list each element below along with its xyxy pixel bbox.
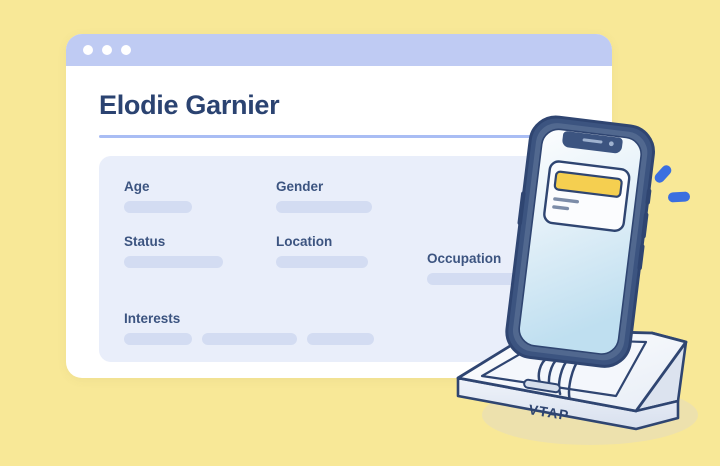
field-label-age: Age	[124, 179, 192, 194]
field-value-status[interactable]	[124, 256, 223, 268]
phone-on-nfc-reader-illustration: VTAP	[440, 130, 720, 460]
page-title: Elodie Garnier	[99, 90, 279, 121]
interest-chip-3[interactable]	[307, 333, 374, 345]
window-dot-minimize-icon[interactable]	[102, 45, 112, 55]
sparkle-dash-2	[653, 163, 674, 185]
sparkle-dash-3	[668, 191, 690, 202]
window-dot-close-icon[interactable]	[83, 45, 93, 55]
field-value-age[interactable]	[124, 201, 192, 213]
field-gender: Gender	[276, 179, 372, 213]
field-value-location[interactable]	[276, 256, 368, 268]
field-age: Age	[124, 179, 192, 213]
interest-chip-1[interactable]	[124, 333, 192, 345]
field-label-gender: Gender	[276, 179, 372, 194]
interest-chip-2[interactable]	[202, 333, 297, 345]
interest-chip-list	[124, 333, 374, 345]
window-dot-maximize-icon[interactable]	[121, 45, 131, 55]
field-label-status: Status	[124, 234, 223, 249]
payment-card-icon	[543, 160, 630, 231]
window-titlebar	[66, 34, 612, 66]
field-value-gender[interactable]	[276, 201, 372, 213]
field-label-location: Location	[276, 234, 368, 249]
field-interests: Interests	[124, 311, 374, 345]
illustration-canvas: Elodie Garnier Age Gender Status Locatio…	[0, 0, 720, 466]
field-status: Status	[124, 234, 223, 268]
field-label-interests: Interests	[124, 311, 374, 326]
field-location: Location	[276, 234, 368, 268]
